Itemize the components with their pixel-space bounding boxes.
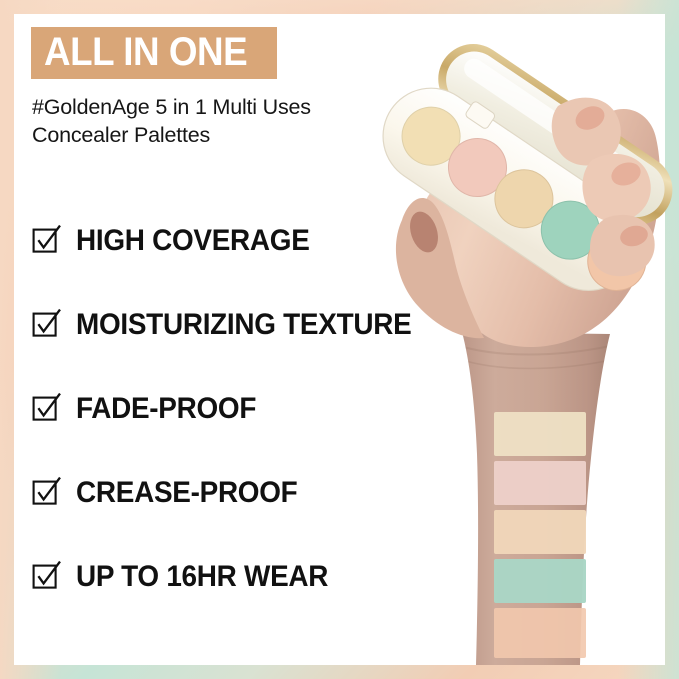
product-subtitle: #GoldenAge 5 in 1 Multi Uses Concealer P… (32, 93, 377, 149)
feature-item: HIGH COVERAGE (32, 199, 382, 283)
product-poster: ALL IN ONE #GoldenAge 5 in 1 Multi Uses … (0, 0, 679, 679)
feature-item: UP TO 16HR WEAR (32, 535, 382, 619)
text-column: ALL IN ONE #GoldenAge 5 in 1 Multi Uses … (22, 14, 382, 665)
checked-checkbox-icon (32, 561, 62, 591)
swatch-strip (494, 412, 586, 658)
feature-label: UP TO 16HR WEAR (76, 561, 328, 593)
feature-label: CREASE-PROOF (76, 477, 297, 509)
swatch-pale-yellow (494, 412, 586, 456)
feature-label: HIGH COVERAGE (76, 225, 310, 257)
swatch-soft-pink (494, 461, 586, 505)
swatch-beige (494, 510, 586, 554)
feature-item: CREASE-PROOF (32, 451, 382, 535)
banner-title: ALL IN ONE (44, 30, 247, 74)
checked-checkbox-icon (32, 225, 62, 255)
feature-list: HIGH COVERAGE MOISTURIZING TEXTURE (32, 199, 382, 619)
swatch-mint-green (494, 559, 586, 603)
checked-checkbox-icon (32, 393, 62, 423)
feature-label: FADE-PROOF (76, 393, 256, 425)
swatch-peach (494, 608, 586, 658)
white-content-card: ALL IN ONE #GoldenAge 5 in 1 Multi Uses … (14, 14, 665, 665)
checked-checkbox-icon (32, 477, 62, 507)
feature-item: MOISTURIZING TEXTURE (32, 283, 382, 367)
product-photo (344, 14, 679, 665)
feature-item: FADE-PROOF (32, 367, 382, 451)
checked-checkbox-icon (32, 309, 62, 339)
forearm (454, 332, 620, 665)
banner-all-in-one: ALL IN ONE (31, 27, 277, 79)
